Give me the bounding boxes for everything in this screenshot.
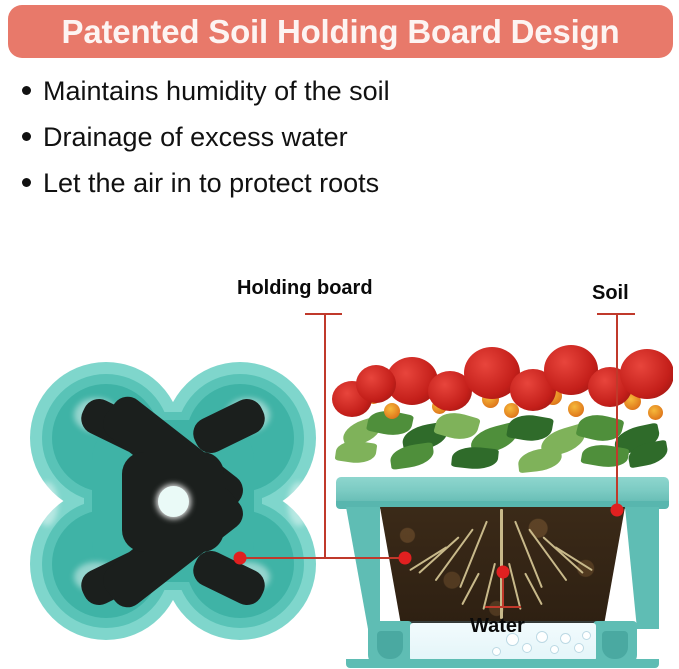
leader-line-holding-board-run xyxy=(240,557,406,559)
list-item: Drainage of excess water xyxy=(22,120,622,166)
leader-line-water-bar xyxy=(485,606,521,608)
holding-board-insert xyxy=(74,404,272,600)
page-title: Patented Soil Holding Board Design xyxy=(62,15,620,48)
planter-base xyxy=(346,659,659,668)
callout-label-soil: Soil xyxy=(592,282,629,305)
callout-label-water: Water xyxy=(470,615,525,638)
product-illustration: Holding board Soil Water xyxy=(0,255,679,646)
feature-text: Maintains humidity of the soil xyxy=(43,74,390,108)
bullet-icon xyxy=(22,86,31,95)
feature-text: Let the air in to protect roots xyxy=(43,166,379,200)
marker-dot-water xyxy=(497,566,510,579)
leader-line-holding-board-stem xyxy=(324,313,326,558)
feature-list: Maintains humidity of the soil Drainage … xyxy=(22,74,622,212)
leader-line-soil-stem xyxy=(616,313,618,511)
list-item: Let the air in to protect roots xyxy=(22,166,622,212)
bullet-icon xyxy=(22,132,31,141)
callout-label-holding-board: Holding board xyxy=(237,277,373,300)
marker-dot-holding-board-section xyxy=(399,552,412,565)
planter-top-view xyxy=(30,362,316,640)
planter-wall-right xyxy=(625,507,659,629)
list-item: Maintains humidity of the soil xyxy=(22,74,622,120)
flowers-and-foliage xyxy=(332,325,673,480)
header-banner: Patented Soil Holding Board Design xyxy=(8,5,673,58)
feature-text: Drainage of excess water xyxy=(43,120,348,154)
planter-wall-left xyxy=(346,507,380,629)
drainage-hole xyxy=(158,486,189,517)
bullet-icon xyxy=(22,178,31,187)
marker-dot-holding-board-topview xyxy=(234,552,247,565)
marker-dot-soil xyxy=(611,504,624,517)
